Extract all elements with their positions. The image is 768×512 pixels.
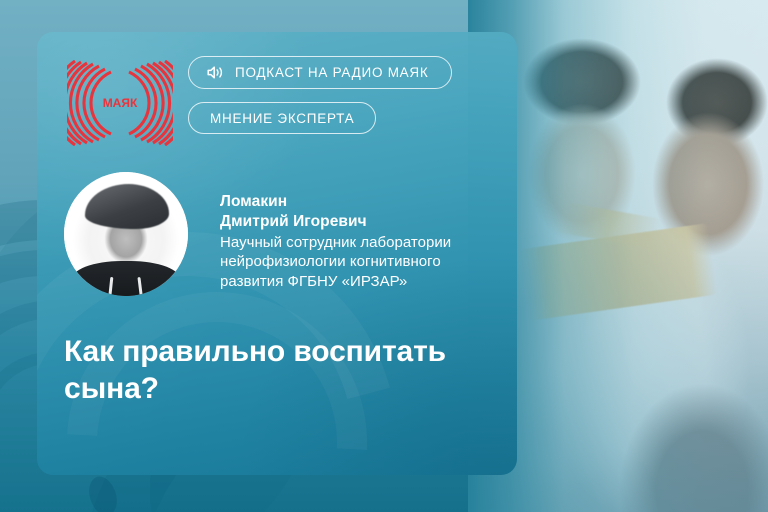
badge-expert-label: МНЕНИЕ ЭКСПЕРТА [210, 111, 354, 126]
speaker-role: Научный сотрудник лаборатории нейрофизио… [220, 233, 517, 292]
speaker-icon [207, 65, 224, 80]
logo-wordmark: МАЯК [103, 96, 138, 110]
avatar-hoodie-cord-right [138, 277, 144, 296]
content-card: МАЯК ПОДКАСТ НА РАДИО МАЯК МНЕНИЕ ЭКСПЕР… [37, 32, 517, 475]
badge-podcast[interactable]: ПОДКАСТ НА РАДИО МАЯК [188, 56, 452, 89]
badge-expert[interactable]: МНЕНИЕ ЭКСПЕРТА [188, 102, 376, 134]
speaker-surname: Ломакин [220, 192, 517, 212]
avatar-hoodie-cord-left [107, 277, 113, 296]
mayak-logo: МАЯК [67, 60, 173, 146]
speaker-info: Ломакин Дмитрий Игоревич Научный сотрудн… [220, 192, 517, 292]
speaker-given-name: Дмитрий Игоревич [220, 212, 517, 232]
promo-canvas: МАЯК ПОДКАСТ НА РАДИО МАЯК МНЕНИЕ ЭКСПЕР… [0, 0, 768, 512]
avatar [64, 172, 188, 296]
avatar-torso [71, 261, 180, 296]
headline: Как правильно воспитать сына? [64, 334, 484, 407]
badge-podcast-label: ПОДКАСТ НА РАДИО МАЯК [235, 65, 429, 80]
